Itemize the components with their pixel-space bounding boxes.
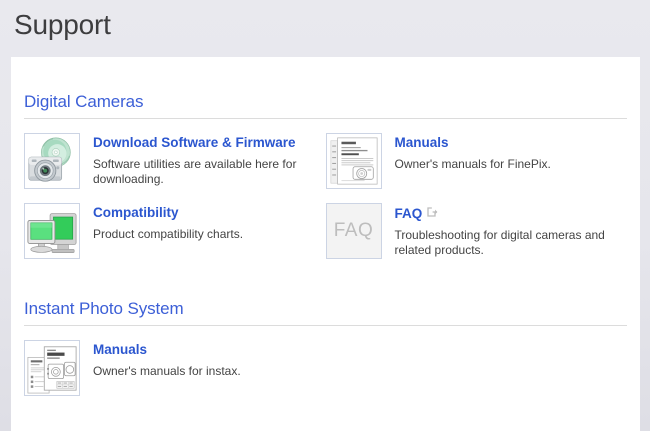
card-description: Owner's manuals for FinePix.: [395, 157, 628, 172]
card-compatibility[interactable]: Compatibility Product compatibility char…: [24, 203, 326, 259]
card-description: Software utilities are available here fo…: [93, 157, 326, 187]
section-divider: [24, 325, 627, 326]
section-heading: Instant Photo System: [24, 299, 627, 319]
link-manuals-finepix[interactable]: Manuals: [395, 135, 449, 151]
card-description: Troubleshooting for digital cameras and …: [395, 228, 628, 258]
card-body: Compatibility Product compatibility char…: [93, 203, 326, 242]
external-link-icon: [427, 204, 438, 214]
instax-manual-thumbnail[interactable]: [24, 340, 80, 396]
card-body: Manuals Owner's manuals for FinePix.: [395, 133, 628, 172]
manual-cover-thumbnail[interactable]: [326, 133, 382, 189]
page-title: Support: [14, 0, 650, 48]
card-body: FAQ Troubleshooting for digital cameras …: [395, 203, 628, 258]
monitors-thumbnail[interactable]: [24, 203, 80, 259]
content-panel: Digital Cameras: [11, 57, 640, 431]
card-body: Download Software & Firmware Software ut…: [93, 133, 326, 187]
card-body: Manuals Owner's manuals for instax.: [93, 340, 326, 379]
card-description: Product compatibility charts.: [93, 227, 326, 242]
card-manuals-finepix[interactable]: Manuals Owner's manuals for FinePix.: [326, 133, 628, 189]
link-manuals-instax[interactable]: Manuals: [93, 342, 147, 358]
support-page: Support Digital Cameras: [0, 0, 650, 431]
link-download-software[interactable]: Download Software & Firmware: [93, 135, 296, 151]
link-faq[interactable]: FAQ: [395, 206, 423, 222]
section-divider: [24, 118, 627, 119]
page-header: Support: [0, 0, 650, 57]
manual-cover-icon: [327, 134, 381, 188]
card-download-software[interactable]: Download Software & Firmware Software ut…: [24, 133, 326, 189]
faq-placeholder-text: FAQ: [334, 220, 374, 242]
card-grid-digital-cameras: Download Software & Firmware Software ut…: [24, 133, 627, 273]
camera-disc-icon: [25, 134, 79, 188]
section-digital-cameras: Digital Cameras: [11, 57, 640, 273]
faq-placeholder-thumbnail[interactable]: FAQ: [326, 203, 382, 259]
section-heading: Digital Cameras: [24, 92, 627, 112]
link-compatibility[interactable]: Compatibility: [93, 205, 179, 221]
instax-manual-icon: [25, 341, 79, 395]
card-grid-instant-photo: Manuals Owner's manuals for instax.: [24, 340, 627, 410]
card-description: Owner's manuals for instax.: [93, 364, 326, 379]
section-instant-photo-system: Instant Photo System: [11, 273, 640, 410]
camera-disc-thumbnail[interactable]: [24, 133, 80, 189]
card-faq[interactable]: FAQ FAQ Troubleshooting for digital came…: [326, 203, 628, 259]
card-manuals-instax[interactable]: Manuals Owner's manuals for instax.: [24, 340, 326, 396]
monitors-icon: [25, 204, 79, 258]
